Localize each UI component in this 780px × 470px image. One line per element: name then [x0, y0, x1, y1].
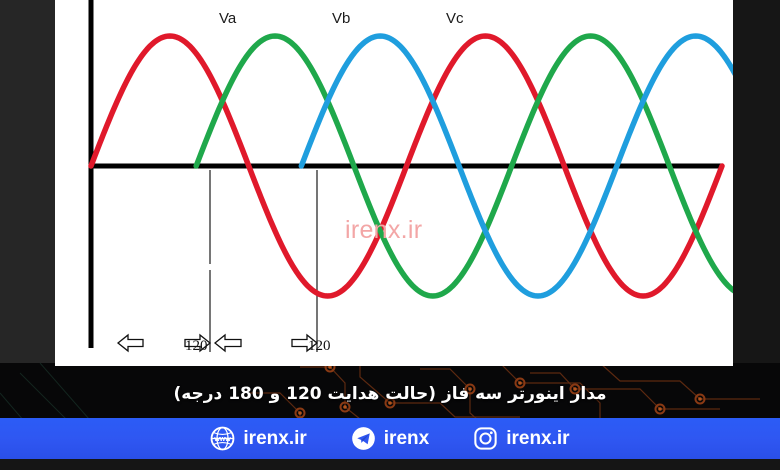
wave-label-vc: Vc	[446, 10, 464, 27]
social-item-instagram[interactable]: irenx.ir	[473, 426, 569, 451]
social-footer-bar: www irenx.ir irenx	[0, 418, 780, 459]
svg-text:www: www	[214, 436, 232, 443]
instagram-icon	[473, 426, 498, 451]
wave-label-va: Va	[219, 10, 236, 27]
dimension-arrow-group-2	[215, 335, 317, 351]
footer-bottom-strip	[0, 459, 780, 470]
dimension-label-1: 120	[185, 338, 208, 355]
social-label-website: irenx.ir	[243, 428, 306, 450]
social-item-telegram[interactable]: irenx	[351, 426, 429, 451]
social-item-website[interactable]: www irenx.ir	[210, 426, 306, 451]
social-label-instagram: irenx.ir	[506, 428, 569, 450]
telegram-icon	[351, 426, 376, 451]
globe-www-icon: www	[210, 426, 235, 451]
figure-caption: مدار اینورتر سه فاز (حالت هدایت 120 و 18…	[0, 374, 780, 414]
waveform-figure-panel: irenx.ir Va Vb Vc 120 120	[55, 0, 733, 366]
social-label-telegram: irenx	[384, 428, 429, 450]
dimension-label-2: 120	[308, 338, 331, 355]
screenshot-root: irenx.ir Va Vb Vc 120 120 مدار اینورتر س…	[0, 0, 780, 470]
wave-label-vb: Vb	[332, 10, 350, 27]
left-dark-margin	[0, 0, 55, 366]
